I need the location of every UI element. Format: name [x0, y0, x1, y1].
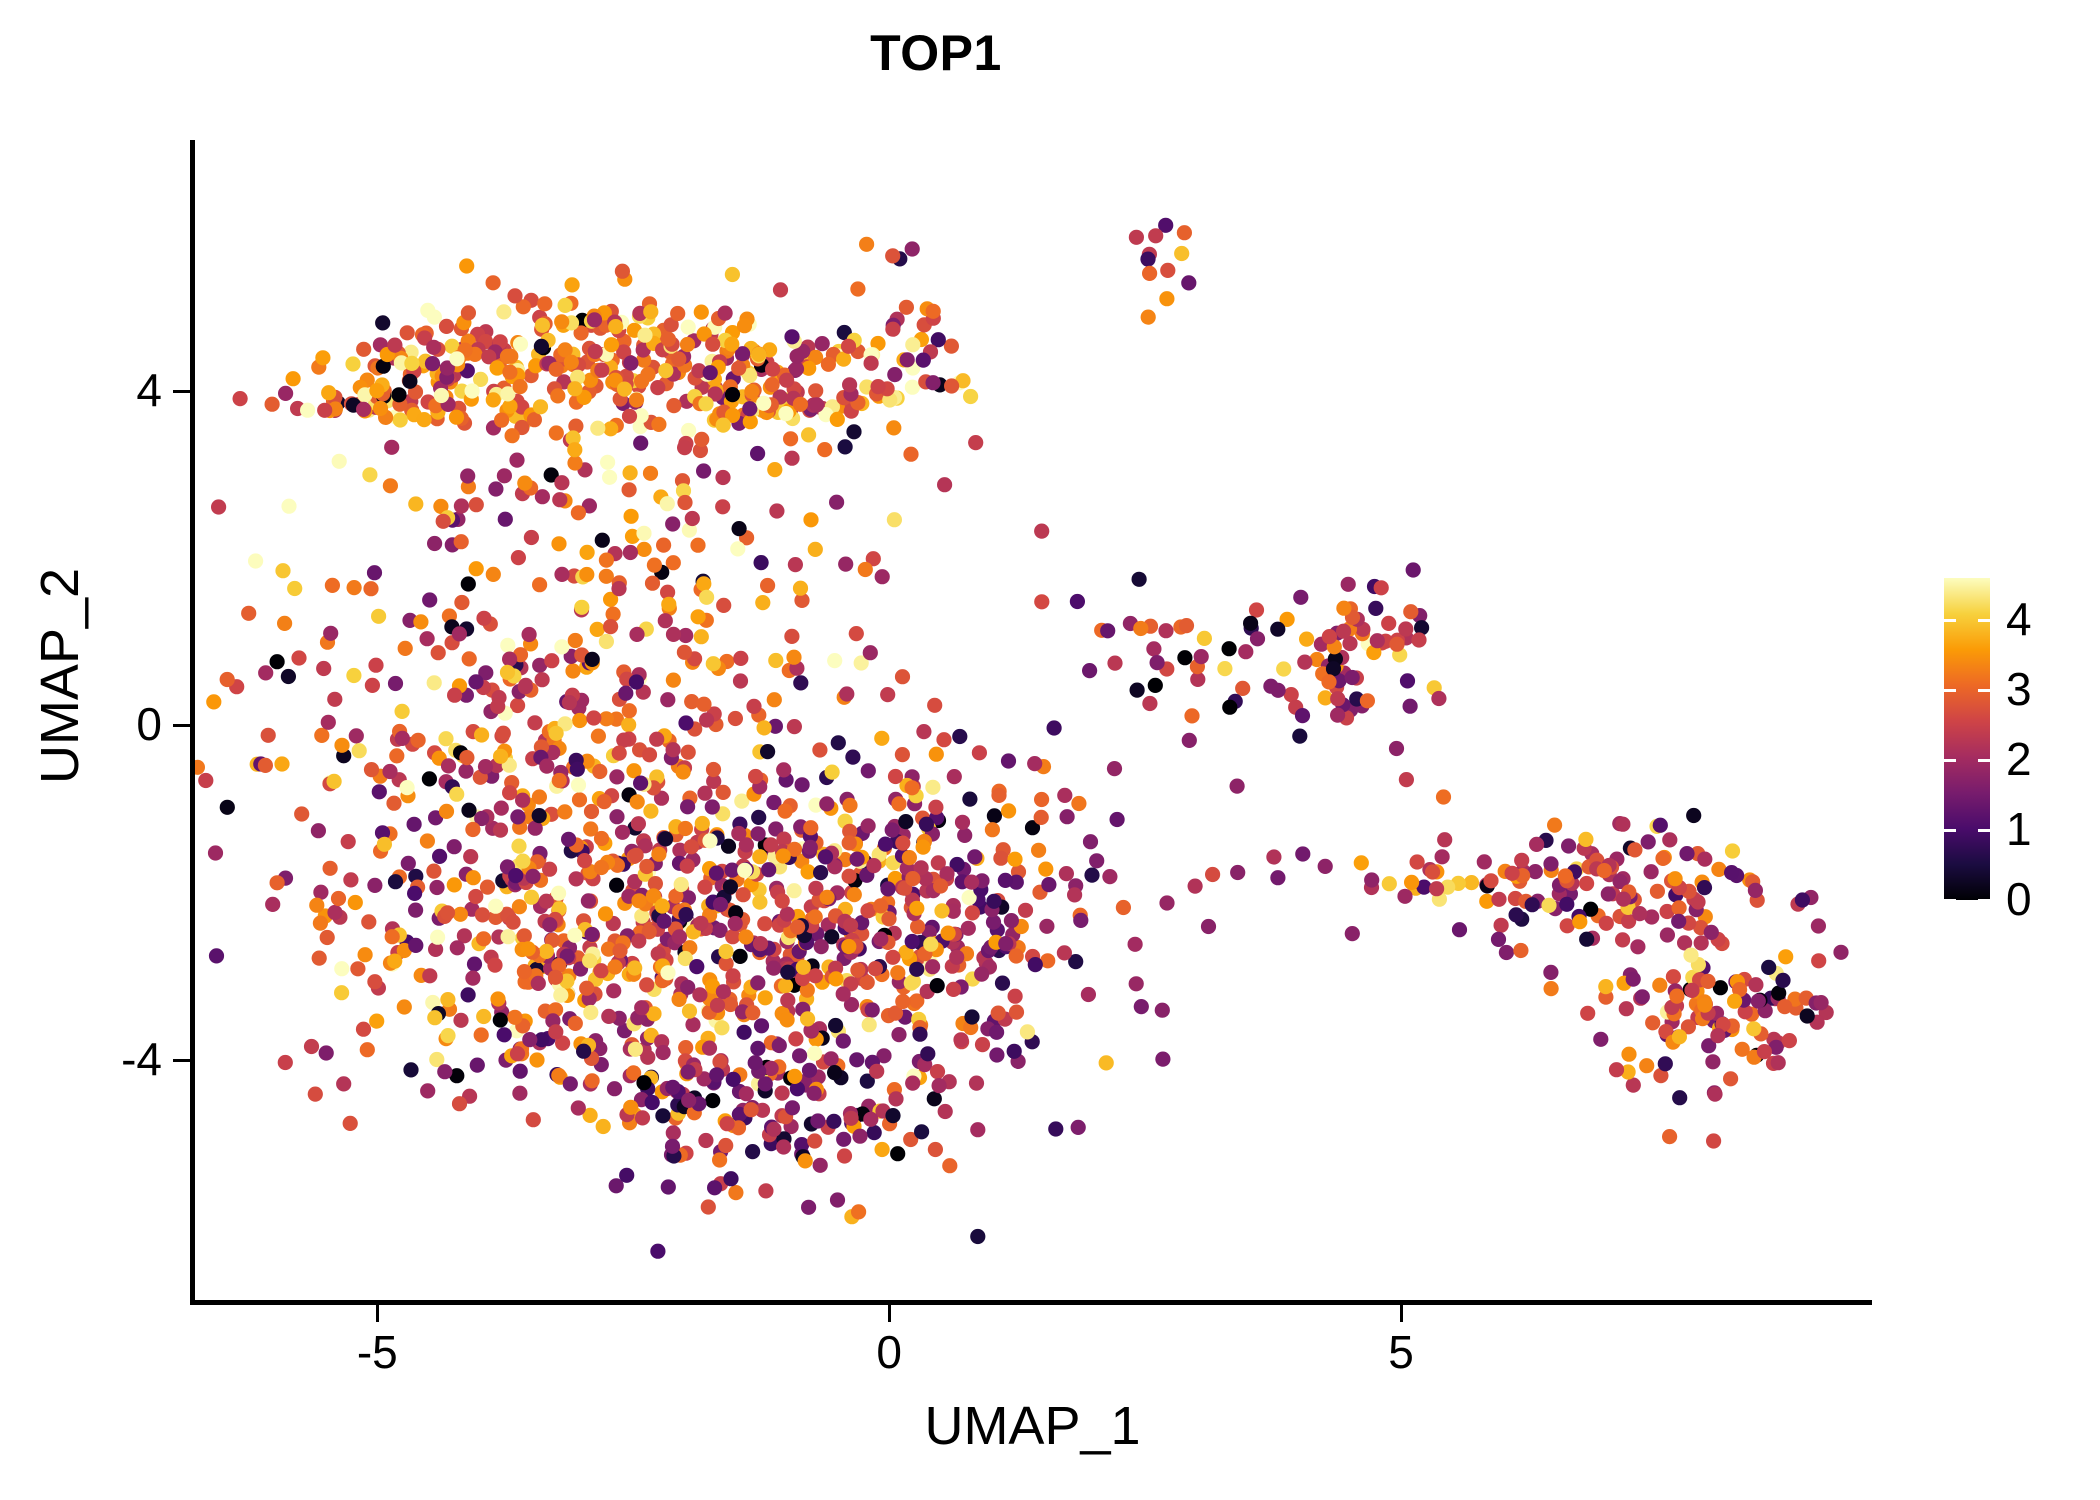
scatter-point: [681, 1093, 696, 1108]
scatter-point: [778, 406, 793, 421]
scatter-point: [554, 639, 569, 654]
x-tick-mark: [376, 1305, 379, 1322]
scatter-point: [1757, 1044, 1772, 1059]
scatter-point: [871, 379, 886, 394]
scatter-point: [486, 392, 501, 407]
scatter-point: [371, 609, 386, 624]
scatter-point: [607, 1081, 622, 1096]
scatter-point: [1684, 983, 1699, 998]
scatter-point: [553, 988, 568, 1003]
scatter-point: [387, 338, 402, 353]
scatter-point: [991, 1006, 1006, 1021]
scatter-point: [1572, 914, 1587, 929]
scatter-point: [270, 654, 285, 669]
scatter-point: [649, 732, 664, 747]
scatter-point: [1436, 789, 1451, 804]
scatter-point: [928, 800, 943, 815]
scatter-point: [842, 798, 857, 813]
scatter-point: [1707, 1087, 1722, 1102]
scatter-point: [1374, 580, 1389, 595]
scatter-point: [1181, 275, 1196, 290]
scatter-point: [837, 1148, 852, 1163]
scatter-point: [413, 614, 428, 629]
y-tick-label: -4: [40, 1032, 162, 1086]
scatter-point: [841, 939, 856, 954]
scatter-point: [738, 929, 753, 944]
scatter-point: [1711, 862, 1726, 877]
scatter-point: [1330, 691, 1345, 706]
scatter-point: [1814, 995, 1829, 1010]
scatter-point: [1425, 864, 1440, 879]
scatter-point: [1081, 987, 1096, 1002]
scatter-point: [1129, 230, 1144, 245]
scatter-point: [1627, 842, 1642, 857]
scatter-point: [387, 954, 402, 969]
scatter-point: [1389, 741, 1404, 756]
scatter-point: [936, 732, 951, 747]
scatter-point: [1578, 832, 1593, 847]
scatter-point: [720, 1116, 735, 1131]
scatter-point: [941, 926, 956, 941]
scatter-point: [819, 796, 834, 811]
scatter-point: [888, 1091, 903, 1106]
scatter-point: [1059, 866, 1074, 881]
scatter-point: [539, 759, 554, 774]
scatter-point: [801, 1200, 816, 1215]
scatter-point: [685, 1017, 700, 1032]
scatter-point: [1609, 1062, 1624, 1077]
scatter-point: [861, 763, 876, 778]
scatter-point: [427, 536, 442, 551]
scatter-point: [594, 963, 609, 978]
scatter-point: [623, 465, 638, 480]
scatter-point: [1775, 973, 1790, 988]
scatter-point: [705, 337, 720, 352]
scatter-point: [1626, 972, 1641, 987]
scatter-point: [827, 653, 842, 668]
scatter-point: [970, 1229, 985, 1244]
scatter-point: [505, 428, 520, 443]
scatter-point: [441, 758, 456, 773]
scatter-point: [1686, 808, 1701, 823]
scatter-point: [967, 849, 982, 864]
scatter-point: [1398, 621, 1413, 636]
scatter-point: [1336, 601, 1351, 616]
scatter-point: [1345, 926, 1360, 941]
scatter-point: [198, 773, 213, 788]
scatter-point: [807, 1046, 822, 1061]
scatter-point: [1833, 945, 1848, 960]
scatter-point: [449, 410, 464, 425]
scatter-point: [713, 897, 728, 912]
scatter-point: [776, 1139, 791, 1154]
scatter-point: [709, 866, 724, 881]
scatter-point: [705, 799, 720, 814]
x-tick-label: 5: [1341, 1325, 1461, 1379]
scatter-point: [1271, 683, 1286, 698]
scatter-point: [666, 627, 681, 642]
scatter-point: [987, 808, 1002, 823]
scatter-point: [450, 940, 465, 955]
scatter-point: [778, 978, 793, 993]
scatter-point: [527, 412, 542, 427]
scatter-point: [518, 679, 533, 694]
scatter-point: [597, 794, 612, 809]
scatter-point: [953, 1032, 968, 1047]
scatter-point: [488, 481, 503, 496]
scatter-point: [671, 352, 686, 367]
scatter-point: [865, 1002, 880, 1017]
scatter-point: [790, 920, 805, 935]
scatter-point: [905, 337, 920, 352]
scatter-point: [585, 1073, 600, 1088]
scatter-point: [895, 747, 910, 762]
scatter-point: [1645, 1015, 1660, 1030]
scatter-point: [402, 374, 417, 389]
scatter-point: [439, 804, 454, 819]
scatter-point: [590, 622, 605, 637]
scatter-point: [1071, 1120, 1086, 1135]
scatter-point: [1505, 866, 1520, 881]
y-tick-mark: [173, 1059, 190, 1062]
scatter-point: [903, 447, 918, 462]
scatter-point: [991, 788, 1006, 803]
colorbar-tick-label: 2: [2006, 732, 2032, 786]
scatter-point: [467, 957, 482, 972]
scatter-point: [703, 365, 718, 380]
scatter-point: [818, 849, 833, 864]
scatter-point: [723, 1171, 738, 1186]
scatter-point: [1177, 225, 1192, 240]
scatter-point: [873, 898, 888, 913]
scatter-point: [905, 934, 920, 949]
scatter-point: [515, 793, 530, 808]
scatter-point: [334, 738, 349, 753]
scatter-point: [718, 1138, 733, 1153]
scatter-point: [1132, 572, 1147, 587]
scatter-point: [1336, 624, 1351, 639]
scatter-point: [666, 673, 681, 688]
scatter-point: [843, 918, 858, 933]
scatter-point: [1205, 867, 1220, 882]
scatter-point: [363, 581, 378, 596]
scatter-point: [454, 595, 469, 610]
scatter-point: [730, 541, 745, 556]
scatter-point: [612, 943, 627, 958]
scatter-point: [400, 325, 415, 340]
scatter-point: [715, 470, 730, 485]
scatter-point: [611, 581, 626, 596]
scatter-point: [286, 371, 301, 386]
scatter-point: [434, 388, 449, 403]
scatter-point: [803, 512, 818, 527]
scatter-point: [1249, 602, 1264, 617]
y-tick-mark: [173, 724, 190, 727]
scatter-point: [517, 476, 532, 491]
scatter-point: [975, 1037, 990, 1052]
scatter-point: [725, 929, 740, 944]
scatter-point: [824, 1051, 839, 1066]
scatter-point: [1235, 681, 1250, 696]
scatter-point: [767, 462, 782, 477]
scatter-point: [658, 363, 673, 378]
scatter-point: [395, 731, 410, 746]
scatter-point: [651, 847, 666, 862]
scatter-point: [1184, 708, 1199, 723]
scatter-point: [895, 669, 910, 684]
scatter-point: [618, 686, 633, 701]
scatter-point: [544, 653, 559, 668]
scatter-point: [682, 1004, 697, 1019]
scatter-point: [629, 674, 644, 689]
scatter-point: [942, 1158, 957, 1173]
scatter-point: [567, 442, 582, 457]
scatter-point: [842, 869, 857, 884]
scatter-point: [631, 816, 646, 831]
scatter-point: [343, 872, 358, 887]
scatter-point: [585, 652, 600, 667]
scatter-point: [594, 831, 609, 846]
scatter-point: [420, 303, 435, 318]
scatter-point: [420, 1083, 435, 1098]
scatter-point: [622, 703, 637, 718]
scatter-point: [321, 385, 336, 400]
scatter-point: [426, 864, 441, 879]
scatter-point: [655, 1108, 670, 1123]
scatter-point: [989, 1025, 1004, 1040]
scatter-point: [1599, 916, 1614, 931]
scatter-point: [563, 1076, 578, 1091]
scatter-point: [561, 832, 576, 847]
scatter-point: [656, 538, 671, 553]
scatter-point: [784, 451, 799, 466]
scatter-point: [1134, 999, 1149, 1014]
scatter-point: [841, 339, 856, 354]
scatter-point: [1672, 1090, 1687, 1105]
scatter-point: [270, 875, 285, 890]
scatter-point: [809, 397, 824, 412]
scatter-point: [609, 809, 624, 824]
scatter-point: [650, 1244, 665, 1259]
scatter-point: [458, 764, 473, 779]
scatter-point: [603, 619, 618, 634]
scatter-point: [1370, 633, 1385, 648]
colorbar-tick-mark: [1978, 899, 1990, 902]
scatter-point: [600, 455, 615, 470]
scatter-point: [642, 747, 657, 762]
scatter-point: [476, 1009, 491, 1024]
scatter-point: [1250, 631, 1265, 646]
scatter-point: [1543, 965, 1558, 980]
scatter-point: [571, 777, 586, 792]
scatter-point: [206, 694, 221, 709]
scatter-point: [850, 852, 865, 867]
scatter-point: [787, 719, 802, 734]
scatter-point: [407, 886, 422, 901]
scatter-point: [1632, 906, 1647, 921]
scatter-point: [1777, 999, 1792, 1014]
scatter-point: [599, 634, 614, 649]
scatter-point: [494, 801, 509, 816]
scatter-point: [1297, 655, 1312, 670]
scatter-point: [1710, 1028, 1725, 1043]
scatter-point: [1706, 1133, 1721, 1148]
scatter-point: [1668, 871, 1683, 886]
scatter-point: [909, 901, 924, 916]
scatter-point: [558, 298, 573, 313]
scatter-point: [1601, 886, 1616, 901]
scatter-point: [678, 715, 693, 730]
scatter-point: [902, 850, 917, 865]
scatter-point: [486, 567, 501, 582]
scatter-point: [666, 1125, 681, 1140]
scatter-point: [993, 851, 1008, 866]
scatter-point: [1660, 927, 1675, 942]
scatter-point: [624, 509, 639, 524]
scatter-point: [681, 745, 696, 760]
scatter-point: [780, 1012, 795, 1027]
scatter-point: [905, 780, 920, 795]
scatter-point: [1031, 843, 1046, 858]
scatter-point: [691, 609, 706, 624]
scatter-point: [696, 697, 711, 712]
scatter-point: [1001, 753, 1016, 768]
scatter-point: [552, 773, 567, 788]
scatter-point: [383, 478, 398, 493]
scatter-point: [788, 1031, 803, 1046]
scatter-point: [725, 267, 740, 282]
scatter-point: [1034, 524, 1049, 539]
scatter-point: [408, 938, 423, 953]
scatter-point: [793, 581, 808, 596]
scatter-point: [490, 991, 505, 1006]
scatter-point: [1403, 699, 1418, 714]
scatter-point: [637, 328, 652, 343]
scatter-point: [461, 305, 476, 320]
scatter-point: [731, 361, 746, 376]
scatter-point: [469, 497, 484, 512]
scatter-point: [565, 277, 580, 292]
scatter-point: [511, 550, 526, 565]
scatter-point: [784, 329, 799, 344]
colorbar-tick-mark: [1944, 759, 1956, 762]
scatter-point: [914, 1124, 929, 1139]
scatter-point: [465, 822, 480, 837]
scatter-point: [880, 687, 895, 702]
scatter-point: [1513, 943, 1528, 958]
y-axis-title: UMAP_2: [29, 376, 91, 976]
scatter-point: [1811, 918, 1826, 933]
scatter-point: [1782, 1033, 1797, 1048]
scatter-point: [765, 377, 780, 392]
scatter-point: [1559, 897, 1574, 912]
scatter-point: [775, 1086, 790, 1101]
scatter-point: [964, 875, 979, 890]
scatter-point: [572, 713, 587, 728]
scatter-point: [1683, 948, 1698, 963]
scatter-point: [350, 961, 365, 976]
scatter-point: [1073, 913, 1088, 928]
scatter-point: [757, 720, 772, 735]
scatter-point: [714, 1020, 729, 1035]
scatter-point: [398, 641, 413, 656]
scatter-point: [1020, 1024, 1035, 1039]
scatter-point: [836, 1033, 851, 1048]
scatter-point: [657, 914, 672, 929]
scatter-point: [798, 1153, 813, 1168]
scatter-points-layer: [193, 140, 1872, 1302]
scatter-point: [890, 965, 905, 980]
x-tick-mark: [1400, 1305, 1403, 1322]
scatter-point: [1725, 843, 1740, 858]
scatter-point: [920, 1046, 935, 1061]
scatter-point: [957, 828, 972, 843]
scatter-point: [750, 1041, 765, 1056]
scatter-point: [748, 769, 763, 784]
scatter-point: [436, 514, 451, 529]
scatter-point: [476, 931, 491, 946]
scatter-point: [327, 905, 342, 920]
x-axis-line: [190, 1300, 1872, 1305]
scatter-point: [1452, 922, 1467, 937]
scatter-point: [692, 987, 707, 1002]
scatter-point: [1107, 761, 1122, 776]
scatter-point: [1009, 1005, 1024, 1020]
scatter-point: [969, 1076, 984, 1091]
scatter-point: [643, 804, 658, 819]
scatter-point: [535, 672, 550, 687]
scatter-point: [827, 1065, 842, 1080]
scatter-point: [1761, 960, 1776, 975]
scatter-point: [497, 1027, 512, 1042]
scatter-point: [591, 729, 606, 744]
scatter-point: [1155, 1052, 1170, 1067]
scatter-point: [426, 340, 441, 355]
scatter-point: [1238, 644, 1253, 659]
scatter-point: [594, 860, 609, 875]
scatter-point: [1142, 266, 1157, 281]
scatter-point: [608, 319, 623, 334]
scatter-point: [1389, 637, 1404, 652]
scatter-point: [1705, 1054, 1720, 1069]
scatter-point: [356, 402, 371, 417]
scatter-point: [453, 1013, 468, 1028]
scatter-point: [760, 578, 775, 593]
scatter-point: [930, 978, 945, 993]
scatter-point: [417, 412, 432, 427]
scatter-point: [763, 837, 778, 852]
scatter-point: [681, 320, 696, 335]
scatter-point: [656, 1045, 671, 1060]
scatter-point: [1641, 834, 1656, 849]
scatter-point: [1102, 869, 1117, 884]
scatter-point: [716, 984, 731, 999]
scatter-point: [1541, 898, 1556, 913]
scatter-point: [709, 1067, 724, 1082]
scatter-point: [549, 362, 564, 377]
scatter-point: [733, 949, 748, 964]
scatter-point: [796, 960, 811, 975]
scatter-point: [549, 726, 564, 741]
scatter-point: [1230, 865, 1245, 880]
scatter-point: [998, 936, 1013, 951]
scatter-point: [631, 933, 646, 948]
scatter-point: [875, 569, 890, 584]
scatter-point: [712, 1152, 727, 1167]
scatter-point: [570, 762, 585, 777]
scatter-point: [617, 382, 632, 397]
scatter-point: [1133, 621, 1148, 636]
